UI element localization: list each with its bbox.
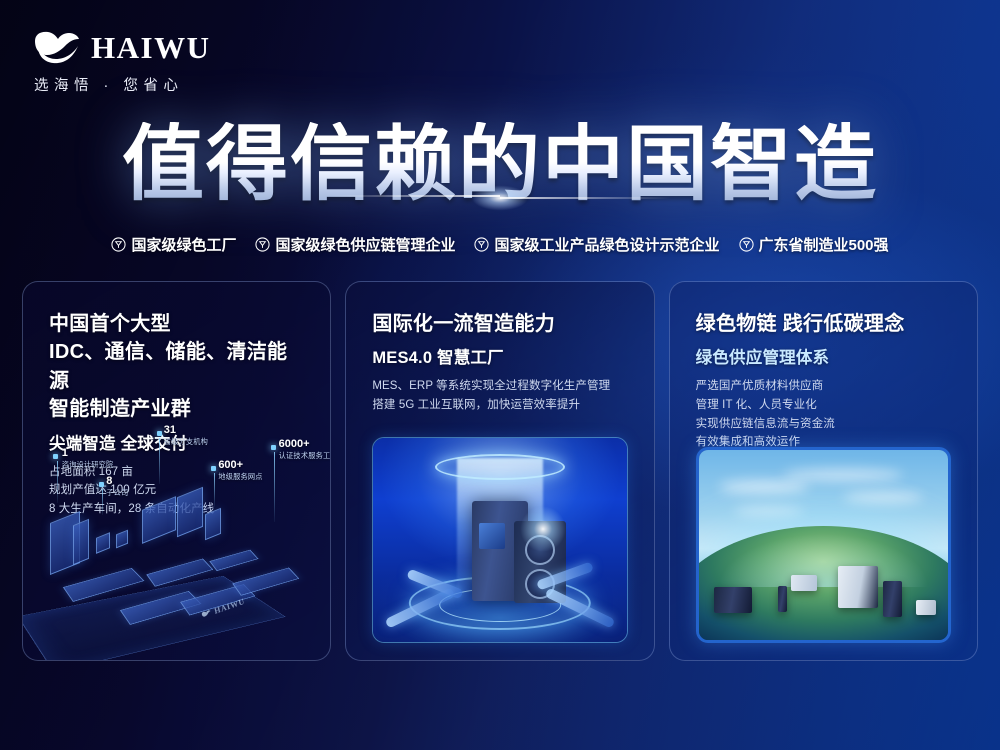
marker-pin: [53, 454, 58, 459]
card-title: 绿色物链 践行低碳理念: [696, 310, 951, 338]
card-title-line: 中国首个大型: [49, 310, 304, 338]
marker-label: 31 省级分支机构: [164, 424, 208, 447]
card-detail-line: 管理 IT 化、人员专业化: [696, 396, 951, 415]
badge-label: 国家级工业产品绿色设计示范企业: [494, 234, 719, 255]
card-title-line: 国际化一流智造能力: [372, 310, 627, 338]
card-title: 国际化一流智造能力: [372, 310, 627, 338]
marker-pin: [271, 445, 276, 450]
product-cabinet: [791, 575, 817, 591]
medal-icon: [255, 237, 270, 252]
park-building: [205, 508, 221, 540]
certification-badges: 国家级绿色工厂 国家级绿色供应链管理企业 国家级工业产品绿色设计示范企业 广东省…: [0, 234, 1000, 255]
card-subtitle: MES4.0 智慧工厂: [372, 344, 627, 368]
marker-pin: [211, 466, 216, 471]
badge-label: 国家级绿色工厂: [131, 234, 236, 255]
card-detail-line: MES、ERP 等系统实现全过程数字化生产管理: [372, 377, 627, 396]
isometric-industrial-park-graphic: HAIWU 1 咨询设计研究院 8 子公司 31: [33, 422, 320, 652]
product-cabinet: [916, 600, 936, 615]
product-cabinet: [778, 586, 787, 612]
medal-icon: [111, 237, 126, 252]
card-detail-line: 实现供应链信息流与资金流: [696, 415, 951, 434]
badge-label: 国家级绿色供应链管理企业: [275, 234, 455, 255]
badge-item: 广东省制造业500强: [739, 234, 889, 255]
card-title-line: 智能制造产业群: [49, 395, 304, 423]
poster-canvas: HAIWU 选海悟 · 您省心 值得信赖的中国智造 国家级绿色工厂 国家级绿色供…: [0, 0, 1000, 750]
park-building: [73, 519, 89, 565]
marker-caption: 地级服务网点: [218, 472, 262, 482]
feature-cards: 中国首个大型 IDC、通信、储能、清洁能源 智能制造产业群 尖端智造 全球交付 …: [22, 281, 978, 661]
product-cabinet: [838, 566, 878, 608]
card-detail-line: 搭建 5G 工业互联网，加快运营效率提升: [372, 396, 627, 415]
brand-logo: HAIWU 选海悟 · 您省心: [32, 30, 210, 95]
card-title: 中国首个大型 IDC、通信、储能、清洁能源 智能制造产业群: [49, 310, 304, 424]
marker-caption: 子公司: [106, 488, 128, 498]
card-smart-manufacturing[interactable]: 国际化一流智造能力 MES4.0 智慧工厂 MES、ERP 等系统实现全过程数字…: [345, 281, 654, 661]
marker-caption: 认证技术服务工程师: [279, 451, 332, 461]
park-workshop: [209, 550, 258, 571]
card-green-supply-chain[interactable]: 绿色物链 践行低碳理念 绿色供应管理体系 严选国产优质材料供应商 管理 IT 化…: [669, 281, 978, 661]
brand-wordmark: HAIWU: [91, 32, 210, 63]
marker-line: [159, 438, 160, 484]
park-building: [177, 487, 203, 538]
card-title-line: 绿色物链 践行低碳理念: [696, 310, 951, 338]
badge-item: 国家级工业产品绿色设计示范企业: [474, 234, 719, 255]
marker-label: 8 子公司: [106, 475, 128, 498]
medal-icon: [739, 237, 754, 252]
marker-caption: 咨询设计研究院: [62, 460, 114, 470]
marker-label: 1 咨询设计研究院: [62, 447, 114, 470]
card-details: MES、ERP 等系统实现全过程数字化生产管理 搭建 5G 工业互联网，加快运营…: [372, 377, 627, 414]
card-detail-line: 严选国产优质材料供应商: [696, 377, 951, 396]
card-details: 严选国产优质材料供应商 管理 IT 化、人员专业化 实现供应链信息流与资金流 有…: [696, 377, 951, 452]
marker-value: 8: [106, 475, 112, 487]
badge-item: 国家级绿色工厂: [111, 234, 236, 255]
marker-label: 6000+ 认证技术服务工程师: [279, 438, 332, 461]
badge-label: 广东省制造业500强: [759, 234, 889, 255]
medal-icon: [474, 237, 489, 252]
card-subtitle: 绿色供应管理体系: [696, 344, 951, 368]
park-workshop: [232, 568, 299, 596]
marker-line: [57, 461, 58, 503]
page-title: 值得信赖的中国智造: [122, 122, 878, 209]
park-building: [96, 532, 110, 554]
marker-value: 6000+: [279, 438, 310, 450]
product-cabinet: [883, 581, 902, 617]
marker-pin: [157, 431, 162, 436]
marker-line: [214, 473, 215, 507]
green-earth-products-photo: [696, 447, 951, 643]
marker-line: [102, 489, 103, 515]
marker-caption: 省级分支机构: [164, 437, 208, 447]
marker-line: [274, 452, 275, 522]
park-building: [116, 530, 128, 549]
brand-slogan: 选海悟 · 您省心: [34, 74, 210, 95]
robot-assembly-photo: [372, 437, 627, 643]
badge-item: 国家级绿色供应链管理企业: [255, 234, 455, 255]
marker-value: 1: [62, 447, 68, 459]
marker-pin: [99, 482, 104, 487]
marker-label: 600+ 地级服务网点: [218, 459, 262, 482]
headline-area: 值得信赖的中国智造: [0, 122, 1000, 209]
product-cabinet: [714, 587, 752, 613]
weld-spark-icon: [520, 506, 566, 552]
park-building: [142, 496, 176, 544]
marker-value: 31: [164, 424, 176, 436]
card-industrial-park[interactable]: 中国首个大型 IDC、通信、储能、清洁能源 智能制造产业群 尖端智造 全球交付 …: [22, 281, 331, 661]
card-title-line: IDC、通信、储能、清洁能源: [49, 338, 304, 395]
haiwu-leaf-logo-icon: [32, 30, 82, 64]
ceiling-ring: [435, 454, 565, 480]
marker-value: 600+: [218, 459, 243, 471]
